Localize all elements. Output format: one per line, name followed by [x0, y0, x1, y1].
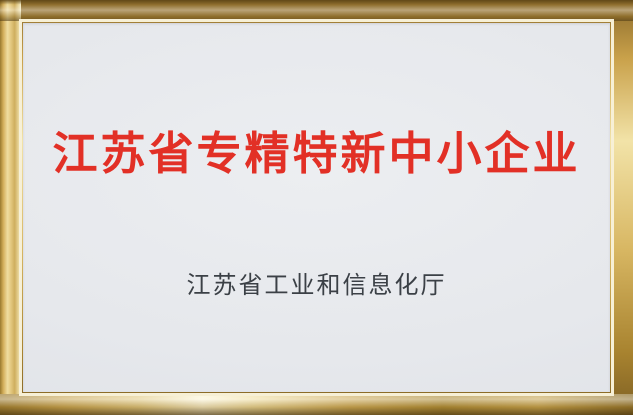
gold-frame-right-rail: [612, 0, 633, 415]
plaque-face: 江苏省专精特新中小企业 江苏省工业和信息化厅: [23, 23, 610, 392]
plaque-issuer: 江苏省工业和信息化厅: [23, 271, 610, 300]
gold-frame-left-rail: [0, 0, 21, 415]
gold-frame-bottom-rail: [0, 394, 633, 415]
plaque-title: 江苏省专精特新中小企业: [23, 128, 610, 180]
award-plaque: 江苏省专精特新中小企业 江苏省工业和信息化厅: [0, 0, 633, 415]
gold-frame-top-rail: [0, 0, 633, 21]
